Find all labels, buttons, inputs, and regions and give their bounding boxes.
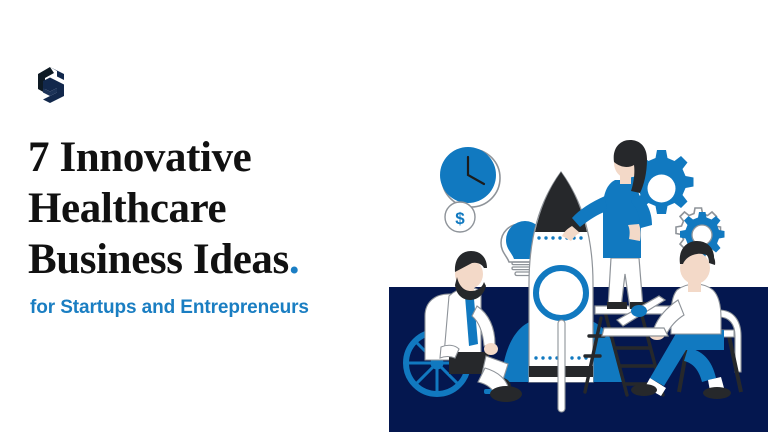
person-in-wheelchair (406, 251, 522, 402)
startup-rocket-team-illustration: $ (389, 0, 768, 432)
headline-line-1: 7 Innovative (28, 134, 251, 181)
headline-line-2: Healthcare (28, 185, 226, 232)
svg-text:$: $ (455, 209, 465, 228)
hexagon-cube-logo-icon[interactable] (30, 64, 72, 106)
clock-icon (440, 147, 500, 207)
headline-line-3: Business Ideas (28, 236, 289, 283)
banner-canvas: 7 Innovative Healthcare Business Ideas. … (0, 0, 768, 432)
illustration-svg: $ (389, 0, 768, 432)
headline-accent-period: . (289, 236, 299, 283)
page-subtitle: for Startups and Entrepreneurs (30, 297, 309, 319)
page-title: 7 Innovative Healthcare Business Ideas. (28, 132, 388, 285)
dollar-coin-icon: $ (445, 202, 475, 232)
